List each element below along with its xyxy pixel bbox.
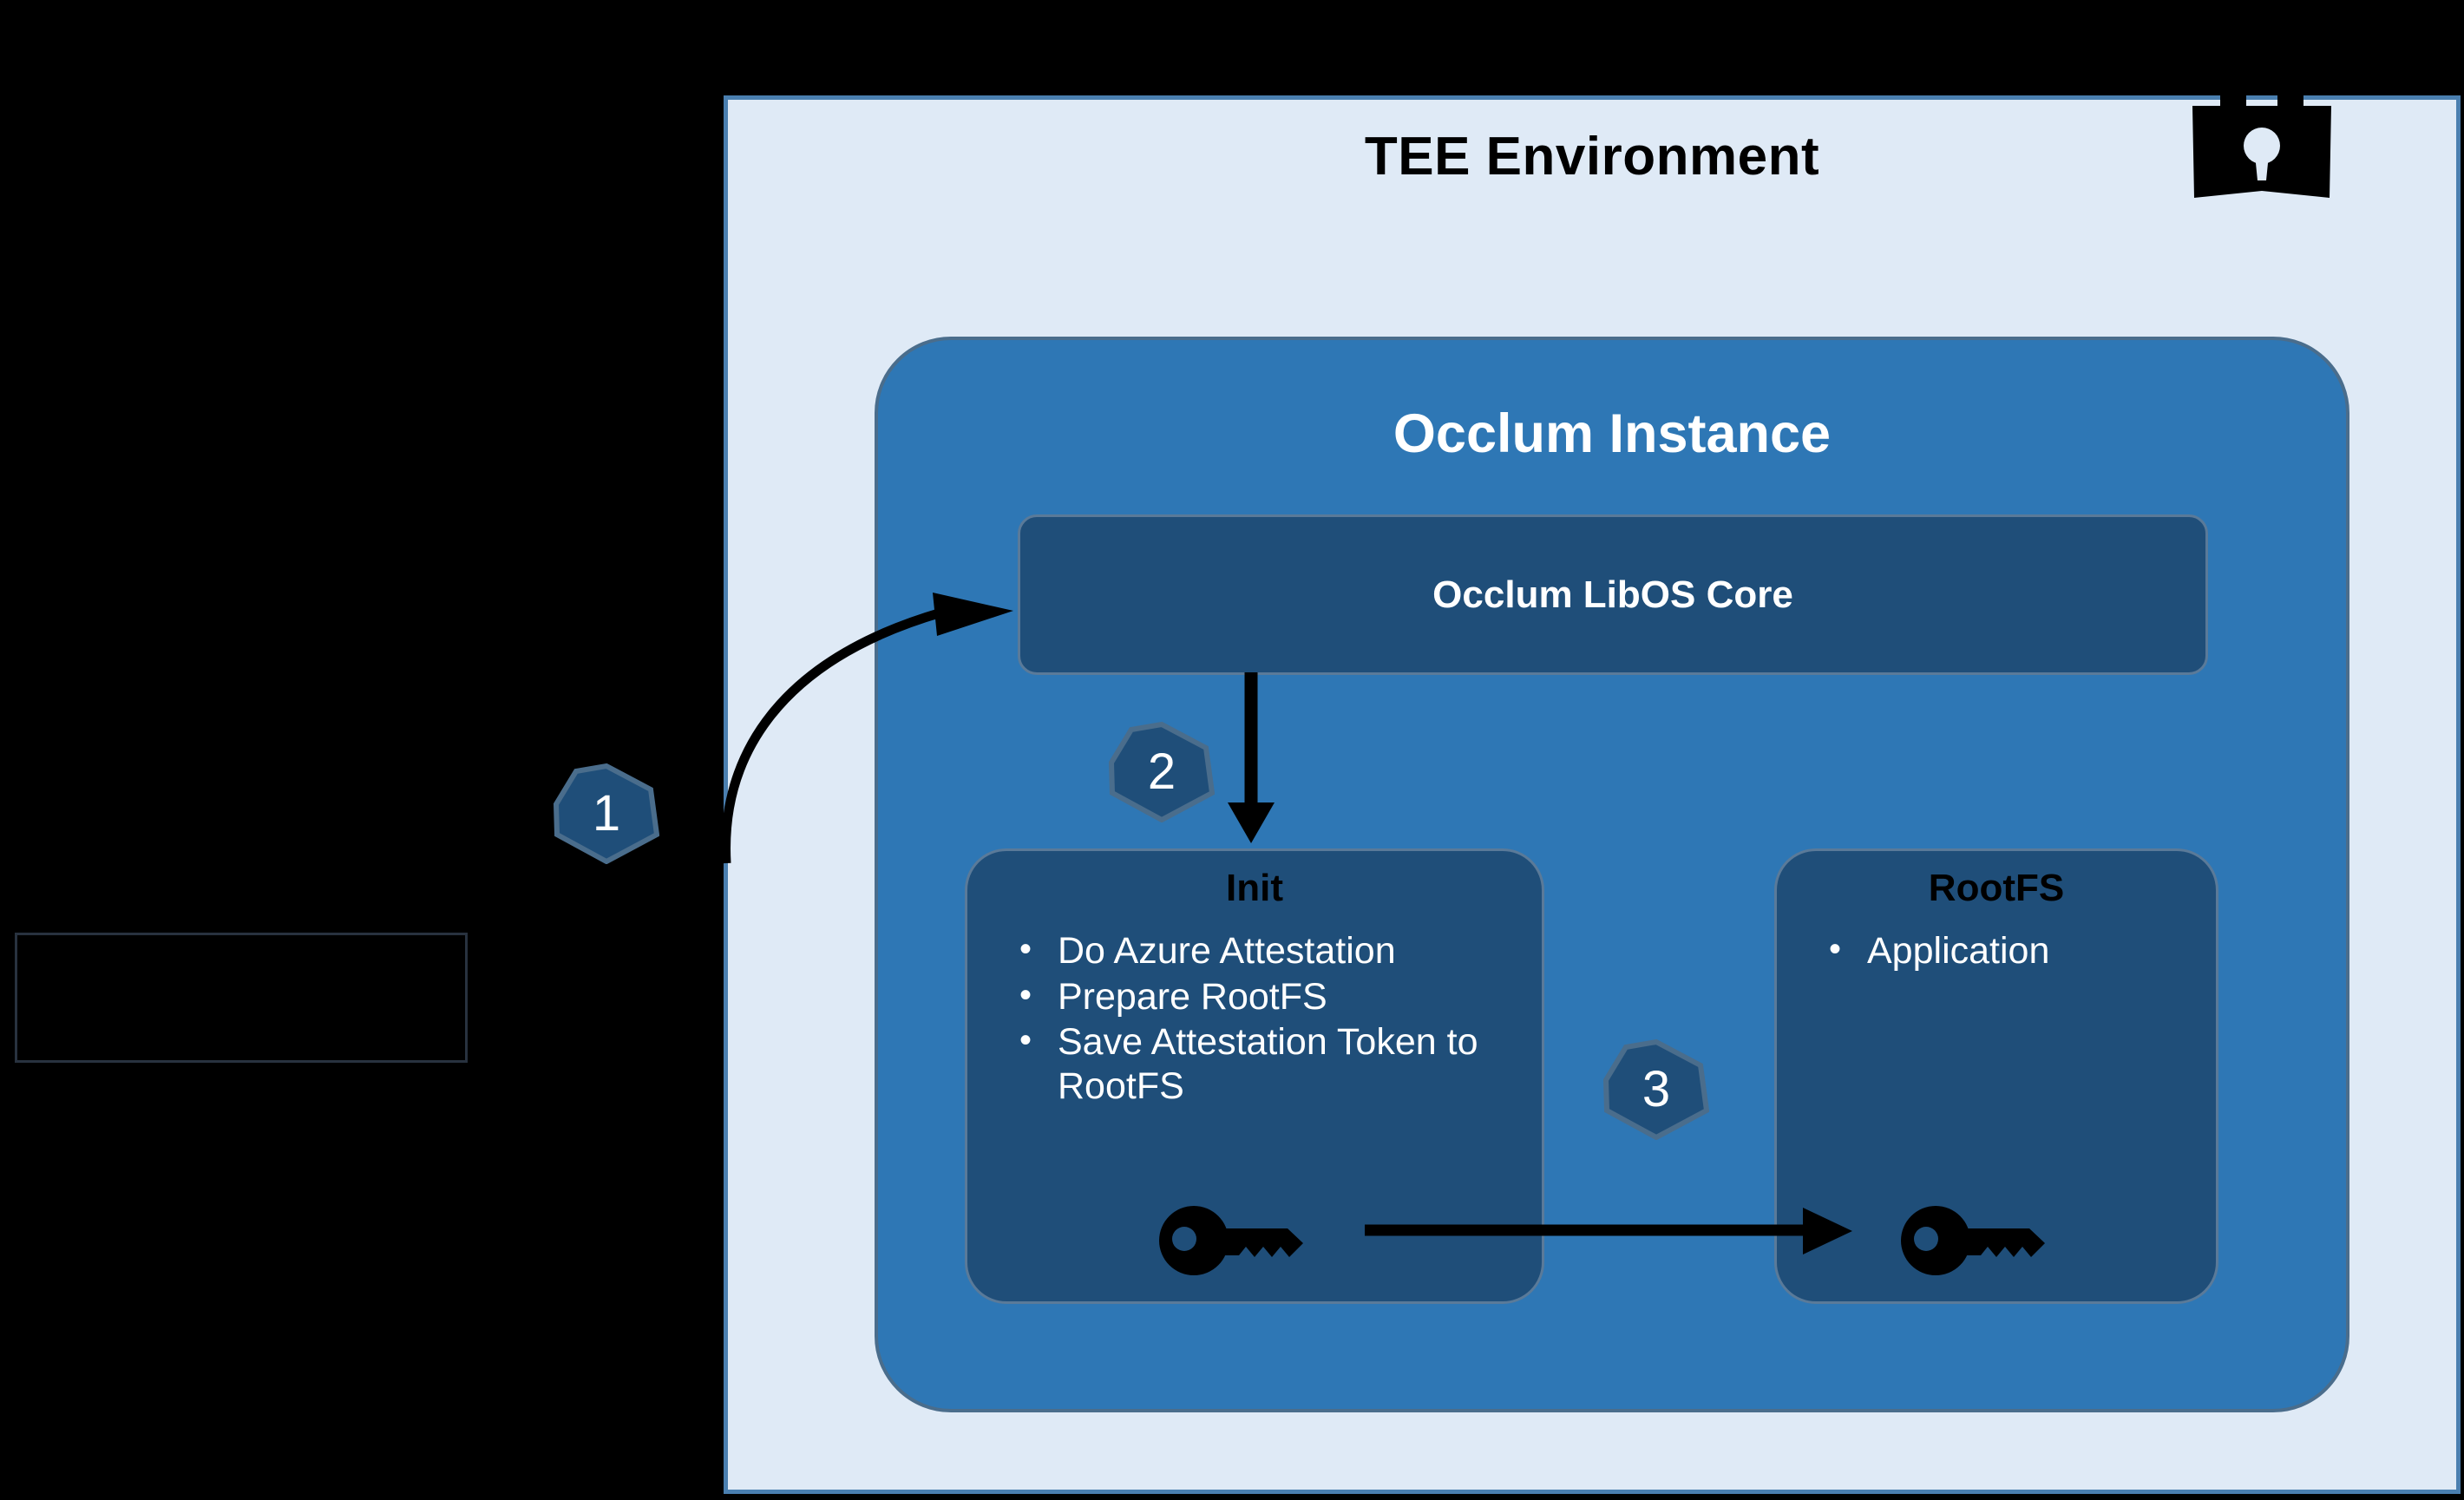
step-2-number: 2 bbox=[1109, 722, 1215, 822]
libos-core-box: Occlum LibOS Core bbox=[1018, 514, 2208, 675]
tee-environment-container: TEE Environment Occlum Instance Occlum L… bbox=[724, 95, 2461, 1494]
libos-core-label: Occlum LibOS Core bbox=[1020, 517, 2205, 672]
key-icon bbox=[1901, 1202, 2053, 1279]
step-1-number: 1 bbox=[554, 763, 659, 864]
step-3-number: 3 bbox=[1603, 1039, 1709, 1140]
list-item: Prepare RootFS bbox=[1004, 975, 1524, 1019]
init-bullet-list: Do Azure Attestation Prepare RootFS Save… bbox=[1004, 929, 1524, 1110]
key-icon bbox=[1159, 1202, 1311, 1279]
occlum-instance-title: Occlum Instance bbox=[878, 403, 2346, 465]
left-black-panel bbox=[0, 0, 724, 1500]
init-title: Init bbox=[967, 867, 1542, 910]
init-box: Init Do Azure Attestation Prepare RootFS… bbox=[965, 848, 1544, 1304]
list-item: Application bbox=[1813, 929, 2204, 973]
list-item: Save Attestation Token to RootFS bbox=[1004, 1020, 1524, 1108]
rootfs-bullet-list: Application bbox=[1813, 929, 2204, 973]
padlock-icon bbox=[2175, 52, 2349, 204]
empty-outline-rectangle bbox=[15, 933, 468, 1063]
rootfs-box: RootFS Application bbox=[1774, 848, 2218, 1304]
list-item: Do Azure Attestation bbox=[1004, 929, 1524, 973]
rootfs-title: RootFS bbox=[1777, 867, 2216, 910]
